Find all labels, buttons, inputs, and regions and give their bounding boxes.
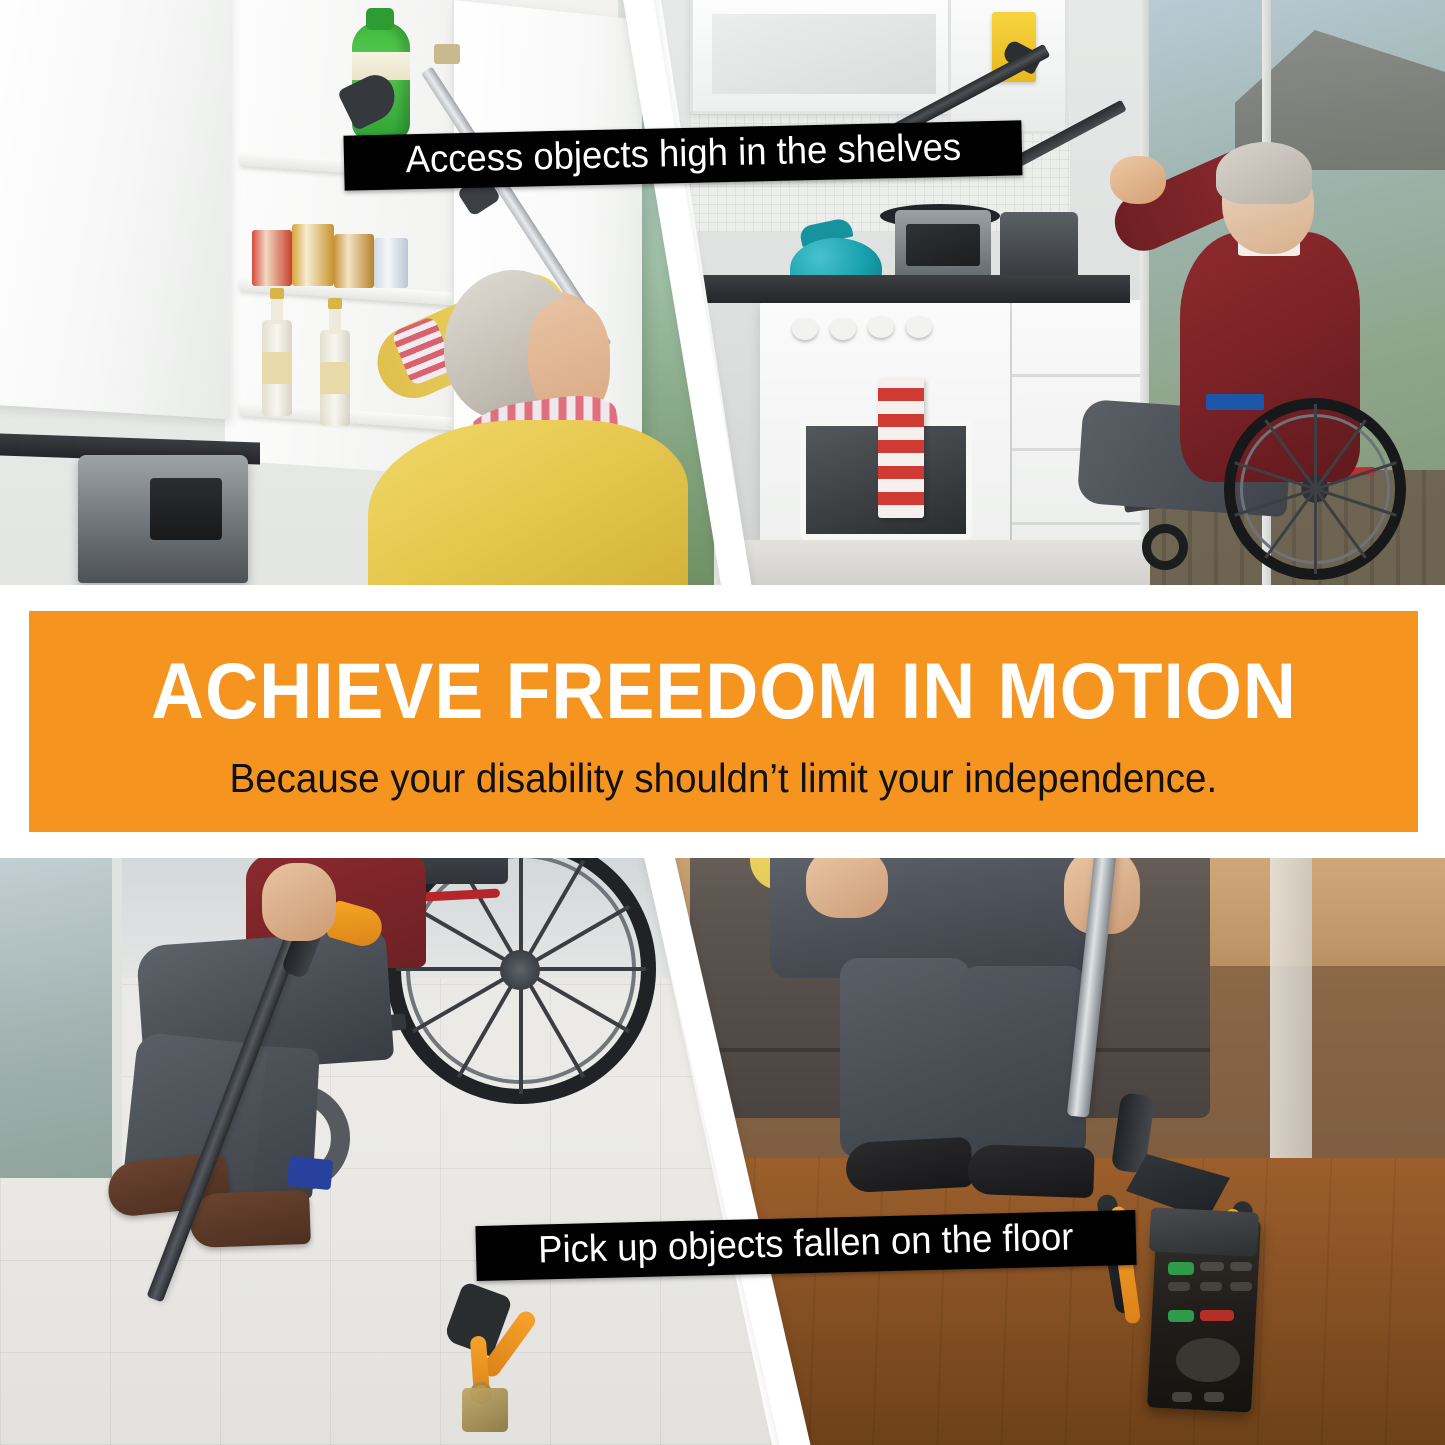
bottle-neck: [271, 296, 283, 324]
person-shin: [960, 966, 1086, 1158]
bottle-cap: [328, 298, 342, 309]
person-hand: [806, 858, 888, 918]
remote-button: [1200, 1282, 1222, 1291]
hardwood-floor: [690, 1158, 1445, 1445]
soda-bottle-cap: [366, 8, 394, 30]
bottom-photo-band: [0, 858, 1445, 1445]
caption-bottom-text: Pick up objects fallen on the floor: [538, 1216, 1074, 1272]
subheadline-text: Because your disability shouldn’t limit …: [230, 758, 1218, 799]
marketing-poster: ACHIEVE FREEDOM IN MOTION Because your d…: [0, 0, 1445, 1445]
person-shin: [840, 958, 970, 1158]
door-frame: [1270, 858, 1312, 1158]
stove-knob: [830, 318, 856, 340]
cooking-pot: [1000, 212, 1078, 284]
blue-sock: [287, 1156, 334, 1190]
stove-knob: [868, 316, 894, 338]
cabinet-glass-panel: [712, 14, 936, 94]
remote-button: [1200, 1262, 1224, 1271]
man-hand: [262, 863, 336, 941]
dress-shoe: [845, 1137, 973, 1194]
top-photo-band: [0, 0, 1445, 585]
bottle-label: [320, 362, 350, 394]
man-hair: [1216, 142, 1312, 204]
wheelchair-castor: [1142, 524, 1188, 570]
cabinet-door-closed: [0, 0, 230, 419]
remote-button: [1172, 1392, 1192, 1402]
cabinet-hinge: [434, 44, 460, 64]
wheelchair-brand-badge: [1206, 394, 1264, 410]
glass-door: [0, 858, 120, 1178]
keys-on-floor: [462, 1388, 508, 1432]
headline-banner: ACHIEVE FREEDOM IN MOTION Because your d…: [29, 611, 1418, 832]
remote-dpad: [1176, 1338, 1240, 1382]
bottle-neck: [329, 306, 341, 334]
kitchen-floor: [690, 540, 1150, 585]
canned-good: [292, 224, 334, 286]
striped-kitchen-towel: [878, 378, 924, 518]
remote-button: [1230, 1262, 1252, 1271]
drawer-seam: [1012, 522, 1140, 525]
counter-top: [690, 275, 1130, 303]
caption-top-text: Access objects high in the shelves: [405, 127, 961, 183]
appliance-control-panel: [150, 478, 222, 540]
tv-remote-top: [1149, 1207, 1259, 1257]
remote-button-green: [1168, 1262, 1194, 1275]
remote-button: [1204, 1392, 1224, 1402]
canned-good: [374, 238, 408, 288]
man-hand: [1110, 156, 1166, 204]
remote-button: [1168, 1282, 1190, 1291]
remote-button-red: [1200, 1310, 1234, 1321]
stove-knob: [792, 318, 818, 340]
dress-shoe: [967, 1144, 1095, 1198]
remote-button: [1230, 1282, 1252, 1291]
wheel-hub: [500, 950, 540, 990]
toaster-window: [906, 224, 980, 266]
bottle-label: [262, 352, 292, 384]
canned-good: [252, 230, 292, 286]
leather-shoe: [189, 1190, 311, 1248]
drawer-seam: [1012, 374, 1140, 377]
yellow-sweater: [368, 420, 688, 585]
bottle-cap: [270, 288, 284, 299]
remote-button-green: [1168, 1310, 1194, 1322]
canned-good: [334, 234, 374, 288]
stove-knob: [906, 316, 932, 338]
glass-door-frame: [112, 858, 122, 1198]
headline-text: ACHIEVE FREEDOM IN MOTION: [151, 651, 1297, 730]
